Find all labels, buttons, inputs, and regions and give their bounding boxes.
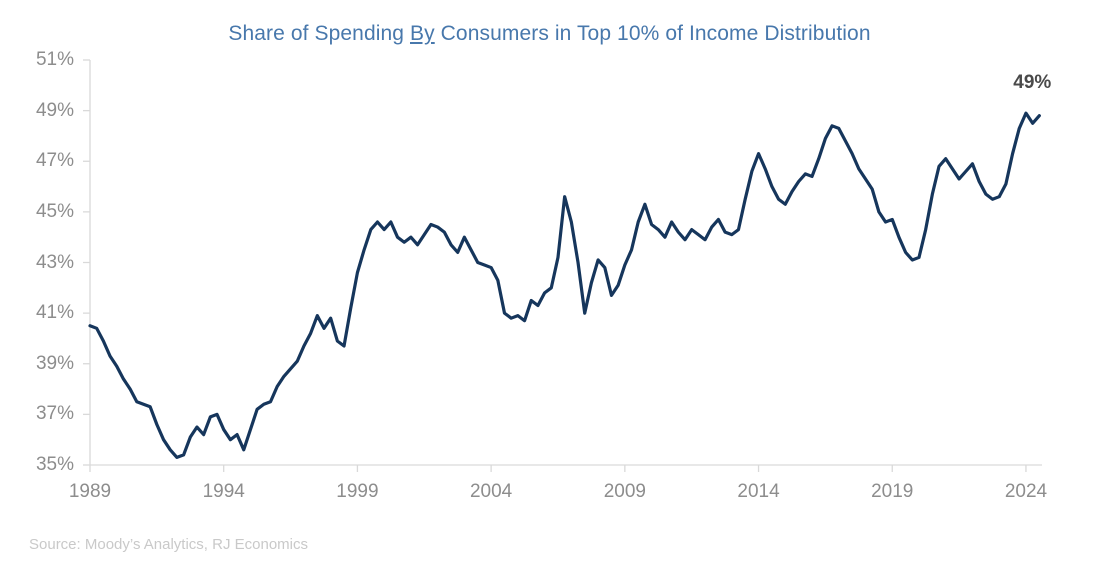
y-tick-label: 39% [36, 353, 74, 375]
y-tick-label: 45% [36, 201, 74, 223]
x-tick-label: 1989 [69, 481, 111, 503]
plot-area [0, 0, 1099, 584]
y-tick-label: 49% [36, 100, 74, 122]
series-endpoint-label: 49% [1013, 72, 1051, 94]
x-tick-label: 2004 [470, 481, 512, 503]
x-tick-label: 2024 [1005, 481, 1047, 503]
y-tick-label: 47% [36, 150, 74, 172]
chart-container: Share of Spending By Consumers in Top 10… [0, 0, 1099, 584]
y-tick-label: 43% [36, 252, 74, 274]
y-axis [83, 60, 90, 465]
x-tick-label: 1994 [203, 481, 245, 503]
x-tick-label: 1999 [336, 481, 378, 503]
y-tick-marks [83, 60, 90, 465]
x-tick-label: 2019 [871, 481, 913, 503]
x-tick-label: 2014 [737, 481, 779, 503]
x-axis [90, 465, 1042, 472]
y-axis-labels: 35%37%39%41%43%45%47%49%51% [0, 0, 74, 584]
source-note: Source: Moody’s Analytics, RJ Economics [29, 536, 308, 553]
y-tick-label: 35% [36, 454, 74, 476]
x-tick-marks [90, 465, 1026, 472]
y-tick-label: 37% [36, 403, 74, 425]
data-series-line [90, 113, 1039, 457]
y-tick-label: 51% [36, 49, 74, 71]
x-tick-label: 2009 [604, 481, 646, 503]
y-tick-label: 41% [36, 302, 74, 324]
